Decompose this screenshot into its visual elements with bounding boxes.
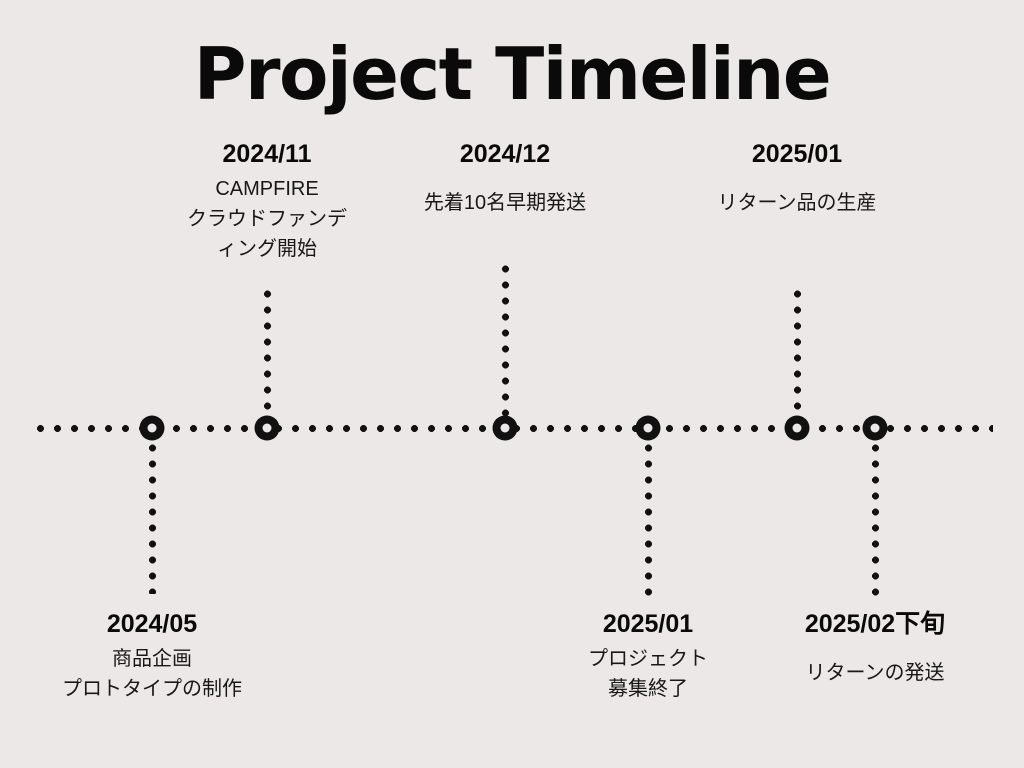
- connector-product-planning: [149, 440, 156, 594]
- event-date: 2025/01: [657, 138, 937, 170]
- event-description-line: 先着10名早期発送: [365, 188, 645, 218]
- event-date: 2024/05: [2, 608, 302, 640]
- event-description: リターン品の生産: [657, 188, 937, 218]
- event-description: リターンの発送: [750, 658, 1000, 688]
- event-description-line: クラウドファンデ: [137, 204, 397, 234]
- event-date: 2024/11: [137, 138, 397, 170]
- event-description: CAMPFIREクラウドファンディング開始: [137, 174, 397, 264]
- event-date: 2024/12: [365, 138, 645, 170]
- connector-early-shipping: [502, 261, 509, 418]
- timeline-label-return-production: 2025/01リターン品の生産: [657, 138, 937, 218]
- event-description: 商品企画プロトタイプの制作: [2, 644, 302, 704]
- event-description-line: プロトタイプの制作: [2, 674, 302, 704]
- event-description-line: ィング開始: [137, 234, 397, 264]
- page-title: Project Timeline: [0, 34, 1024, 114]
- timeline-marker-early-shipping[interactable]: [493, 416, 518, 441]
- event-description-line: リターン品の生産: [657, 188, 937, 218]
- timeline-label-product-planning: 2024/05商品企画プロトタイプの制作: [2, 608, 302, 704]
- event-description-line: 商品企画: [2, 644, 302, 674]
- event-description: 先着10名早期発送: [365, 188, 645, 218]
- event-date: 2025/02下旬: [750, 608, 1000, 640]
- timeline-label-return-shipping: 2025/02下旬リターンの発送: [750, 608, 1000, 688]
- timeline-canvas: Project Timeline 2024/05商品企画プロトタイプの制作202…: [0, 0, 1024, 768]
- timeline-marker-return-shipping[interactable]: [863, 416, 888, 441]
- event-description-line: リターンの発送: [750, 658, 1000, 688]
- event-description-line: プロジェクト: [518, 644, 778, 674]
- timeline-label-early-shipping: 2024/12先着10名早期発送: [365, 138, 645, 218]
- timeline-marker-product-planning[interactable]: [140, 416, 165, 441]
- event-date: 2025/01: [518, 608, 778, 640]
- timeline-label-campfire-crowdfunding: 2024/11CAMPFIREクラウドファンディング開始: [137, 138, 397, 264]
- connector-return-production: [794, 286, 801, 418]
- timeline-marker-return-production[interactable]: [785, 416, 810, 441]
- connector-return-shipping: [872, 440, 879, 596]
- connector-campfire-crowdfunding: [264, 286, 271, 418]
- event-description-line: CAMPFIRE: [137, 174, 397, 204]
- timeline-marker-campfire-crowdfunding[interactable]: [255, 416, 280, 441]
- timeline-marker-project-close[interactable]: [636, 416, 661, 441]
- event-description: プロジェクト募集終了: [518, 644, 778, 704]
- timeline-label-project-close: 2025/01プロジェクト募集終了: [518, 608, 778, 704]
- connector-project-close: [645, 440, 652, 596]
- event-description-line: 募集終了: [518, 674, 778, 704]
